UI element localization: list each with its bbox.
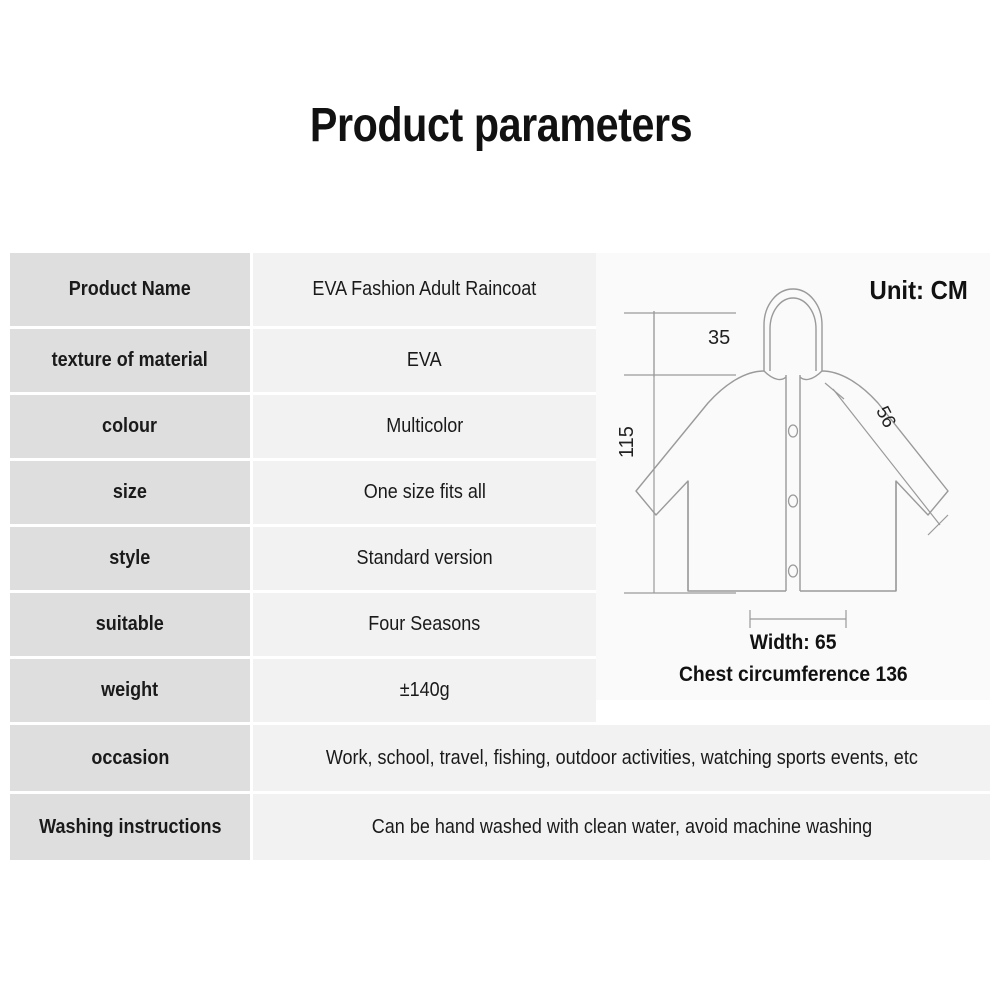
row-label-text: weight xyxy=(101,679,158,702)
row-label-cell: texture of material xyxy=(10,329,250,392)
row-label-cell: Washing instructions xyxy=(10,794,250,860)
row-value-text: Work, school, travel, fishing, outdoor a… xyxy=(326,747,918,770)
row-value-text: Standard version xyxy=(356,547,492,570)
row-label-text: style xyxy=(109,547,150,570)
row-value-cell: Multicolor xyxy=(253,395,596,458)
row-value-text: ±140g xyxy=(400,679,450,702)
row-value-text: Multicolor xyxy=(386,415,463,438)
row-label-text: occasion xyxy=(91,747,169,770)
row-value-cell: EVA Fashion Adult Raincoat xyxy=(253,253,596,326)
row-label-text: suitable xyxy=(96,613,164,636)
chest-label-text: Chest circumference 136 xyxy=(679,663,908,687)
row-label-cell: Product Name xyxy=(10,253,250,326)
row-value-cell: Standard version xyxy=(253,527,596,590)
chest-circumference-label: Chest circumference 136 xyxy=(596,663,990,687)
row-value-text: EVA xyxy=(407,349,442,372)
row-label-text: texture of material xyxy=(52,349,208,372)
row-value-cell: One size fits all xyxy=(253,461,596,524)
row-label-cell: suitable xyxy=(10,593,250,656)
row-label-cell: style xyxy=(10,527,250,590)
row-value-cell: Four Seasons xyxy=(253,593,596,656)
unit-label: Unit: CM xyxy=(870,275,968,306)
hood-height-label: 35 xyxy=(708,327,730,350)
row-label-text: Washing instructions xyxy=(39,816,221,839)
total-length-label: 115 xyxy=(616,426,639,458)
row-label-cell: weight xyxy=(10,659,250,722)
table-row: Washing instructions Can be hand washed … xyxy=(10,794,990,860)
row-label-text: colour xyxy=(102,415,157,438)
row-value-cell: EVA xyxy=(253,329,596,392)
row-value-cell: ±140g xyxy=(253,659,596,722)
width-label-text: Width: 65 xyxy=(750,631,837,655)
page-title: Product parameters xyxy=(70,98,932,153)
width-label: Width: 65 xyxy=(596,631,990,655)
snap-button-icon xyxy=(789,425,798,577)
row-label-text: size xyxy=(113,481,147,504)
row-label-cell: size xyxy=(10,461,250,524)
table-row: occasion Work, school, travel, fishing, … xyxy=(10,725,990,791)
row-value-cell: Can be hand washed with clean water, avo… xyxy=(253,794,990,860)
raincoat-measurement-diagram: Unit: CM 35 115 56 Width: 65 Chest circu… xyxy=(596,253,990,700)
row-value-text: EVA Fashion Adult Raincoat xyxy=(313,278,537,301)
row-value-cell: Work, school, travel, fishing, outdoor a… xyxy=(253,725,990,791)
row-label-cell: occasion xyxy=(10,725,250,791)
row-value-text: Can be hand washed with clean water, avo… xyxy=(371,816,871,839)
row-label-cell: colour xyxy=(10,395,250,458)
row-label-text: Product Name xyxy=(69,278,191,301)
product-parameters-page: Product parameters Product Name EVA Fash… xyxy=(0,0,1002,1002)
row-value-text: One size fits all xyxy=(363,481,485,504)
row-value-text: Four Seasons xyxy=(368,613,480,636)
